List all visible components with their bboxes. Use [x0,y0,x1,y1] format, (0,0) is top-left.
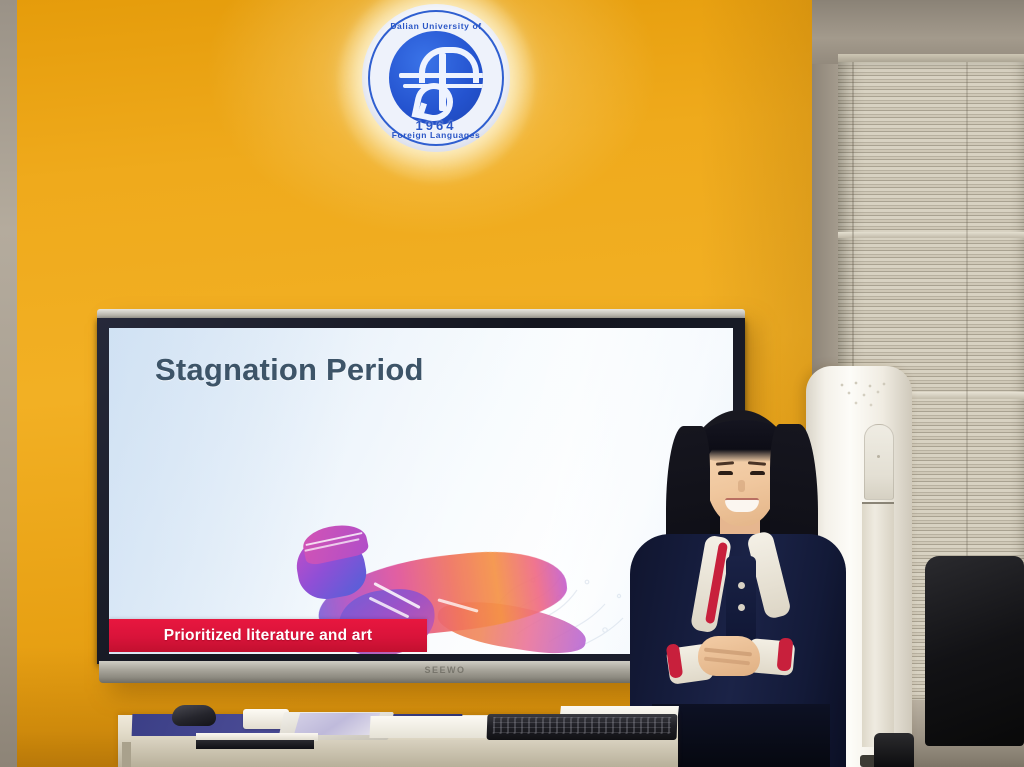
presenter-button-lower [738,604,745,611]
ac-display-panel[interactable] [864,424,894,500]
presenter-nose [738,480,745,492]
ac-air-vent [862,502,894,747]
classroom-scene: Dalian University of Foreign Languages 1… [0,0,1024,767]
office-chair-backrest[interactable] [925,556,1024,746]
ac-led-indicator [877,455,880,458]
university-emblem: Dalian University of Foreign Languages 1… [362,4,510,152]
emblem-arc-top-text: Dalian University of [370,21,502,31]
computer-mouse[interactable] [172,705,216,726]
desk-dark-strip [196,740,314,749]
blind-seam-upper [838,232,1024,238]
emblem-year-text: 1964 [370,118,502,133]
presenter-eye-right [750,471,765,475]
chair-armrest[interactable] [874,733,914,767]
presenter-smile [725,498,759,512]
laptop-screen [294,713,380,735]
presenter-button-placket [726,556,756,642]
keyboard-keys [493,717,672,734]
desk-leg-left [122,742,131,767]
presenter-button-upper [738,582,745,589]
display-brand-logo: SEEWO [405,665,485,675]
emblem-outer-ring: Dalian University of Foreign Languages 1… [368,10,504,146]
slide-caption-bar: Prioritized literature and art [109,619,427,652]
slide-title: Stagnation Period [155,352,424,388]
emblem-glyph-bar-upper [399,73,483,78]
wall-left-edge-strip [0,0,17,767]
presenter-eye-left [718,471,733,475]
slide-caption-text: Prioritized literature and art [164,627,372,645]
presenter-lower-body [652,704,830,767]
emblem-core-disc [389,31,483,125]
presenter-cuff-right-red-band [777,637,794,671]
